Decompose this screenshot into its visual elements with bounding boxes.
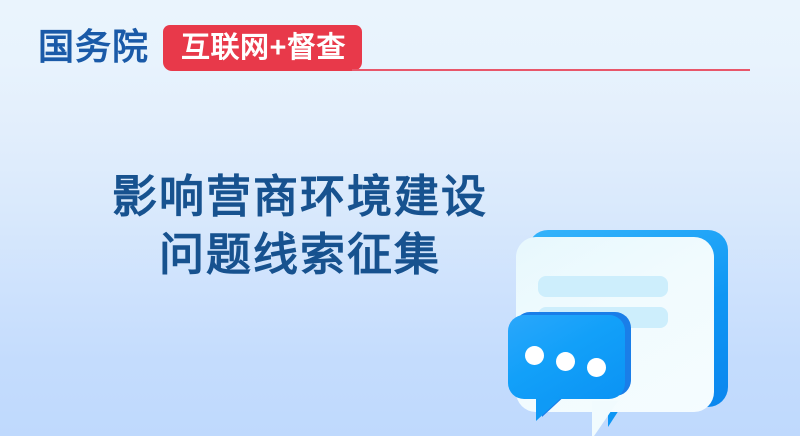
large-bubble-tail-icon: [592, 401, 618, 436]
badge-label: 互联网+督查: [181, 33, 346, 63]
gov-council-logo-text: 国务院: [38, 26, 149, 68]
typing-dot-1-icon: [525, 346, 544, 365]
speech-bubbles-illustration: [480, 215, 770, 436]
banner: 国务院 互联网+督查 影响营商环境建设 问题线索征集: [0, 0, 800, 436]
bubble-text-line-1: [538, 276, 668, 297]
typing-dot-3-icon: [587, 358, 606, 377]
internet-plus-supervision-badge[interactable]: 互联网+督查: [163, 25, 362, 71]
header-divider-rule: [352, 69, 750, 71]
header: 国务院 互联网+督查: [0, 0, 800, 90]
typing-dot-2-icon: [556, 352, 575, 371]
small-bubble-tail-icon: [536, 397, 562, 421]
